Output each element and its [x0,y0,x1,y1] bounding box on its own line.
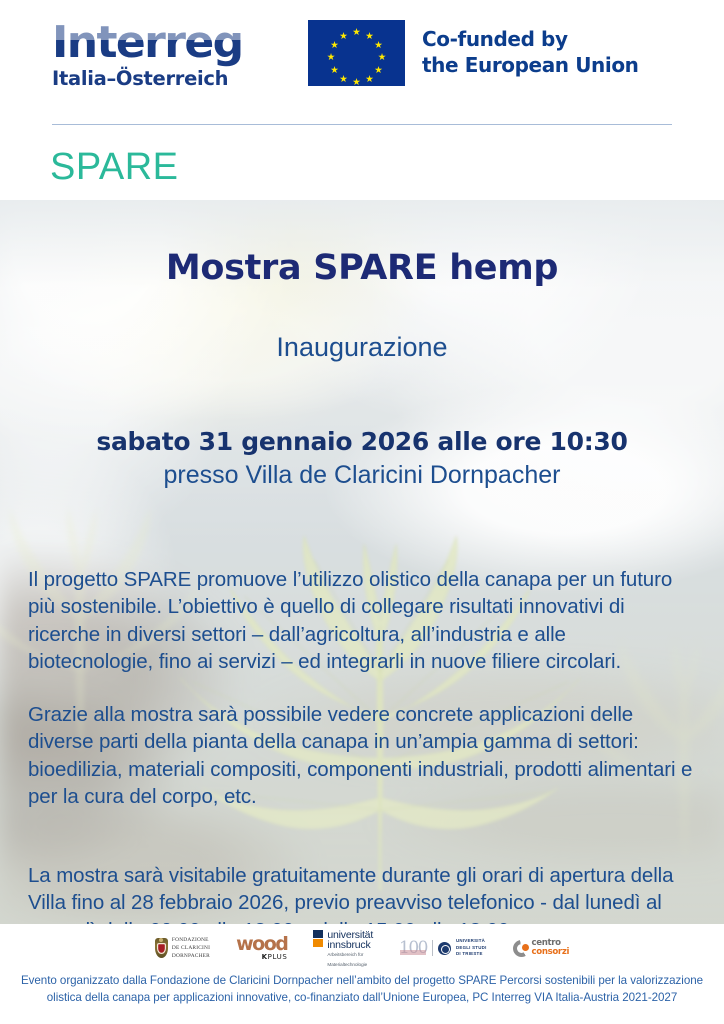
header-logo-row: Interreg Italia–Österreich ★ ★ ★ ★ ★ ★ ★… [52,18,672,96]
innsbruck-sub1: Arbeitsbereich für [327,952,373,959]
trieste-seal-icon [438,942,451,955]
poster-footer: FONDAZIONE DE CLARICINI DORNPACHER wood … [0,924,724,1024]
eu-cofunded-logo: ★ ★ ★ ★ ★ ★ ★ ★ ★ ★ ★ ★ Co-funded by the… [308,18,639,86]
logo-fondazione-de-claricini: FONDAZIONE DE CLARICINI DORNPACHER [155,936,210,960]
poster-body: Mostra SPARE hemp Inaugurazione sabato 3… [0,200,724,924]
fondazione-line1: FONDAZIONE [172,936,210,944]
logo-centro-consorzi: centro consorzi [513,939,570,956]
trieste-line3: DI TRIESTE [456,951,487,957]
paragraph-project: Il progetto SPARE promuove l’utilizzo ol… [28,566,696,675]
event-place: presso Villa de Claricini Dornpacher [22,461,702,490]
centro-dot-icon [522,944,529,951]
interreg-wordmark: Interreg [52,22,243,64]
eu-cofunded-text: Co-funded by the European Union [422,27,639,78]
header-divider [52,124,672,125]
trieste-anniversary-mark: 100 [399,941,427,956]
wood-wordmark: wood [236,935,287,953]
eu-flag-icon: ★ ★ ★ ★ ★ ★ ★ ★ ★ ★ ★ ★ [308,20,405,86]
trieste-logo-text: UNIVERSITÀ DEGLI STUDI DI TRIESTE [456,938,487,957]
fondazione-line3: DORNPACHER [172,952,210,960]
fondazione-logo-text: FONDAZIONE DE CLARICINI DORNPACHER [172,936,210,960]
partner-logos-row: FONDAZIONE DE CLARICINI DORNPACHER wood … [0,924,724,966]
poster-header: Interreg Italia–Österreich ★ ★ ★ ★ ★ ★ ★… [0,0,724,200]
event-date: sabato 31 gennaio 2026 alle ore 10:30 [22,427,702,456]
innsbruck-squares-icon [313,930,323,948]
innsbruck-line2: innsbruck [327,940,373,950]
wood-kplus-label: KPLUS [262,953,288,961]
eu-text-line2: the European Union [422,53,639,79]
footer-disclaimer: Evento organizzato dalla Fondazione de C… [0,966,724,1007]
interreg-logo: Interreg Italia–Österreich [52,18,268,90]
interreg-region-label: Italia–Österreich [52,67,268,90]
logo-wood-kplus: wood KPLUS [236,935,287,961]
poster-title: Mostra SPARE hemp [22,248,702,288]
paragraph-opening-hours: La mostra sarà visitabile gratuitamente … [28,862,696,924]
eu-text-line1: Co-funded by [422,27,639,53]
trieste-line1: UNIVERSITÀ [456,938,487,944]
interreg-wordmark-text: Interreg [52,17,243,68]
poster-content: Mostra SPARE hemp Inaugurazione sabato 3… [0,248,724,924]
centro-arc-icon [513,940,530,957]
centro-logo-text: centro consorzi [532,939,570,956]
centro-line2: consorzi [532,948,570,957]
poster-subtitle: Inaugurazione [22,332,702,363]
crest-icon [155,938,168,958]
innsbruck-sub2: Materialtechnologie [327,962,373,969]
wood-plus-letters: PLUS [268,953,288,961]
fondazione-line2: DE CLARICINI [172,944,210,952]
logo-universita-trieste: 100 UNIVERSITÀ DEGLI STUDI DI TRIESTE [399,938,487,957]
programme-title: SPARE [50,146,179,189]
trieste-separator [432,940,433,956]
poster-body-text: Il progetto SPARE promuove l’utilizzo ol… [22,566,702,924]
innsbruck-logo-text: universität innsbruck Arbeitsbereich für… [327,930,373,968]
paragraph-exhibition: Grazie alla mostra sarà possibile vedere… [28,701,696,810]
logo-universitaet-innsbruck: universität innsbruck Arbeitsbereich für… [313,928,373,968]
